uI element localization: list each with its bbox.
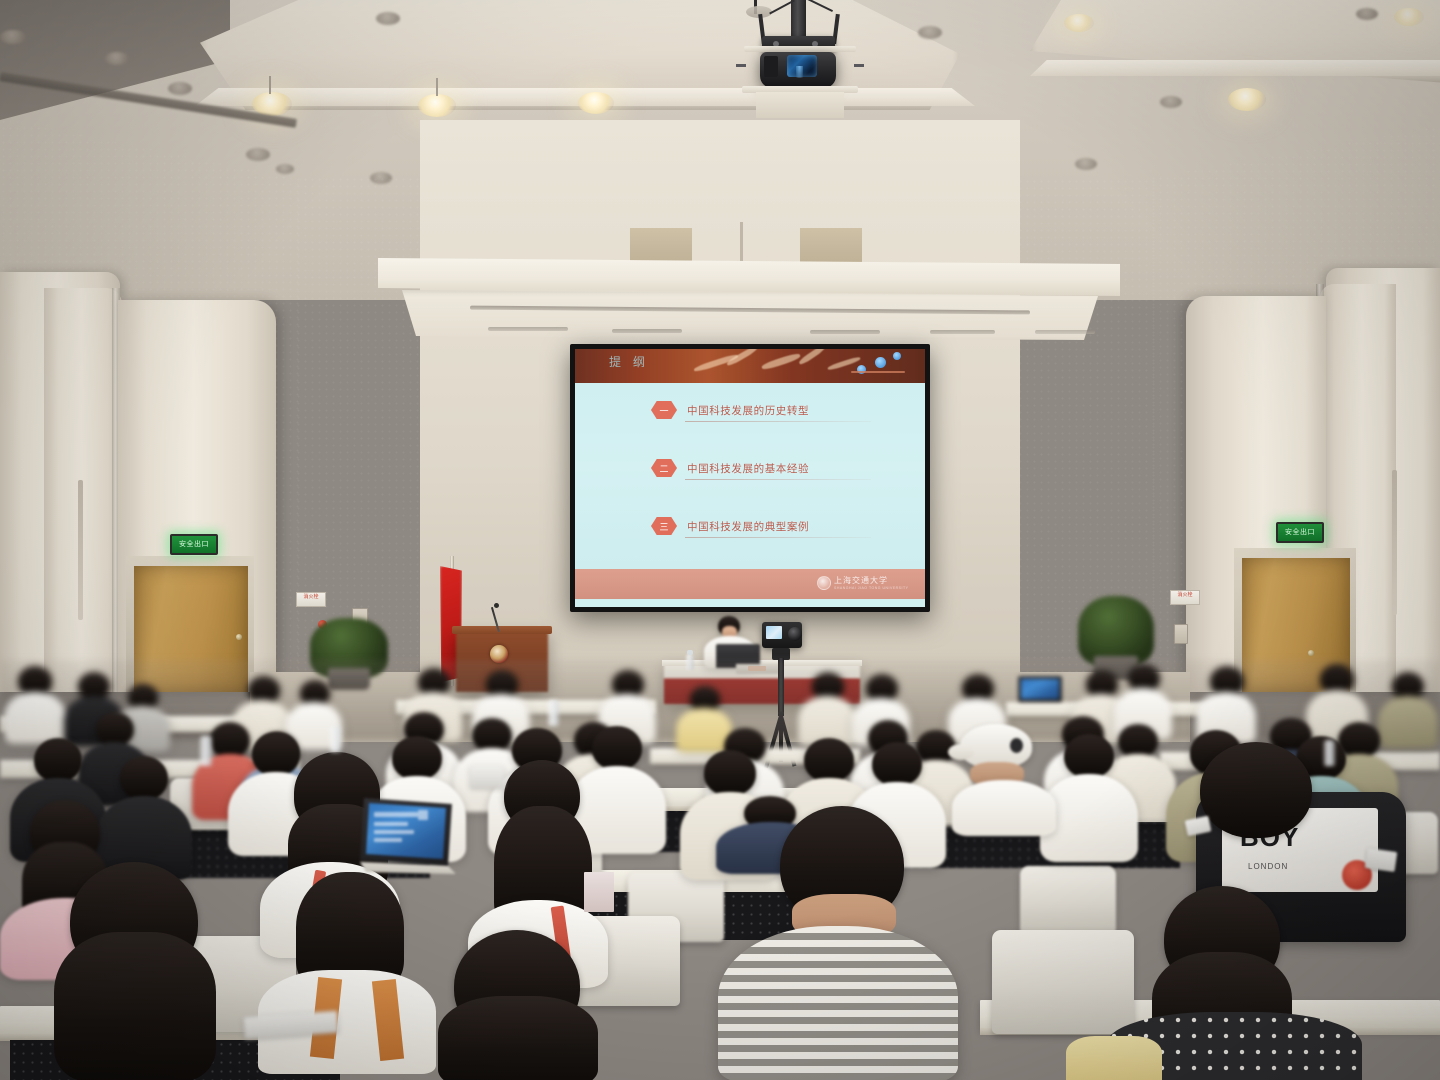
bulkhead-slot-seg [488,327,568,331]
bottle-on-desk-3 [548,700,559,726]
slide-item-1-text: 中国科技发展的历史转型 [687,403,809,418]
ceiling-speaker-grille [918,26,942,39]
slide-outline-item-2: 二 中国科技发展的基本经验 [651,455,901,485]
ceiling-downlight [1228,88,1266,111]
sjtu-logo-text: 上海交通大学 [834,575,908,586]
slide-header: 提 纲 [609,353,649,370]
lecture-hall-photo: 安全出口 消火栓 安全出口 消火栓 [0,0,1440,1080]
exit-sign-right: 安全出口 [1276,522,1324,543]
exit-sign-left: 安全出口 [170,534,218,555]
handheld-camera-mid [470,766,504,788]
camera-lens-icon [788,627,802,641]
ceiling-coffer-lip-right [1030,60,1440,76]
presentation-slide: 提 纲 一 中国科技发展的历史转型 二 中国科技发展的基本经验 三 中国科技发展… [575,349,925,607]
slide-item-3-rule [685,537,871,538]
notebook-on-desk [584,872,614,912]
slide-item-3-text: 中国科技发展的典型案例 [687,519,809,534]
water-bottle-cap [687,650,693,655]
fire-hose-plate-right: 消火栓 [1170,590,1200,605]
sjtu-logo-subtext: SHANGHAI JIAO TONG UNIVERSITY [834,586,908,590]
open-laptop-left [360,798,456,876]
fire-hose-plate-left-text: 消火栓 [297,593,325,602]
sjtu-seal-icon [817,576,831,590]
bulkhead-slot-seg [1035,330,1095,334]
wall-conduit [740,222,743,262]
slide-item-1-badge: 一 [651,401,677,419]
wall-panel-curved-left-2 [44,288,122,692]
ceiling-speaker-grille [168,82,192,95]
fire-hose-plate-right-text: 消火栓 [1171,591,1199,600]
door-knob-left [236,634,242,640]
bulkhead-face [392,290,1108,340]
wall-panel-acoustic [800,228,862,264]
student-polka-dot-front-right [1106,886,1366,1080]
bottle-on-desk-1 [200,736,212,766]
ceiling-downlight [1064,14,1094,32]
student-white-cap [948,724,1060,834]
student-boy-head [1190,742,1320,862]
fire-hose-plate-left: 消火栓 [296,592,326,607]
door-knob-right [1308,650,1314,656]
slide-item-1-rule [685,421,871,422]
slide-footer: 上海交通大学 SHANGHAI JIAO TONG UNIVERSITY [575,569,925,599]
ceiling-downlight [1394,8,1424,26]
slide-outline-item-3: 三 中国科技发展的典型案例 [651,513,901,543]
ceiling-downlight [418,94,456,117]
projection-screen: 提 纲 一 中国科技发展的历史转型 二 中国科技发展的基本经验 三 中国科技发展… [570,344,930,612]
podium-microphone-head [494,603,499,608]
wall-panel-groove [78,480,83,620]
ceiling-speaker-grille [1160,96,1182,108]
ceiling-speaker-grille [276,164,294,174]
slide-item-3-badge: 三 [651,517,677,535]
ceiling-speaker-grille [1075,158,1097,170]
boy-tshirt-graphic-subtext: LONDON [1248,862,1288,871]
light-stem [436,78,438,96]
ceiling-speaker-grille [246,148,270,161]
sjtu-logo: 上海交通大学 SHANGHAI JIAO TONG UNIVERSITY [817,575,908,590]
slide-item-2-badge: 二 [651,459,677,477]
slide-item-2-rule [685,479,871,480]
ceiling-speaker-grille [105,52,129,65]
ceiling-speaker-grille [376,12,400,25]
exit-sign-right-text: 安全出口 [1285,529,1315,536]
ceiling-projector [730,0,880,118]
lectern-top [452,626,552,634]
slide-item-2-text: 中国科技发展的基本经验 [687,461,809,476]
wall-panel-acoustic [630,228,692,264]
bottle-on-desk-2 [330,726,341,752]
student-striped-shirt-front [718,806,958,1080]
slide-outline-item-1: 一 中国科技发展的历史转型 [651,397,901,427]
ceiling-speaker-grille [1356,8,1378,20]
bulkhead-slot-seg [612,329,682,333]
student-front-left-bottom [14,862,254,1080]
exit-sign-left-text: 安全出口 [179,541,209,548]
bottle-on-desk-4 [1324,740,1335,766]
ceiling-speaker-grille [0,30,26,44]
camera-lcd-screen [766,626,782,639]
wall-switch-box-right [1174,624,1188,644]
bulkhead-slot-seg [810,330,880,334]
light-stem [269,76,271,94]
tablet-on-desk-right [1365,848,1397,872]
student-orange-overalls [244,872,454,1072]
ceiling-downlight [578,92,614,114]
wall-panel-groove-right [1392,470,1397,615]
bulkhead-slot-seg [930,330,995,334]
